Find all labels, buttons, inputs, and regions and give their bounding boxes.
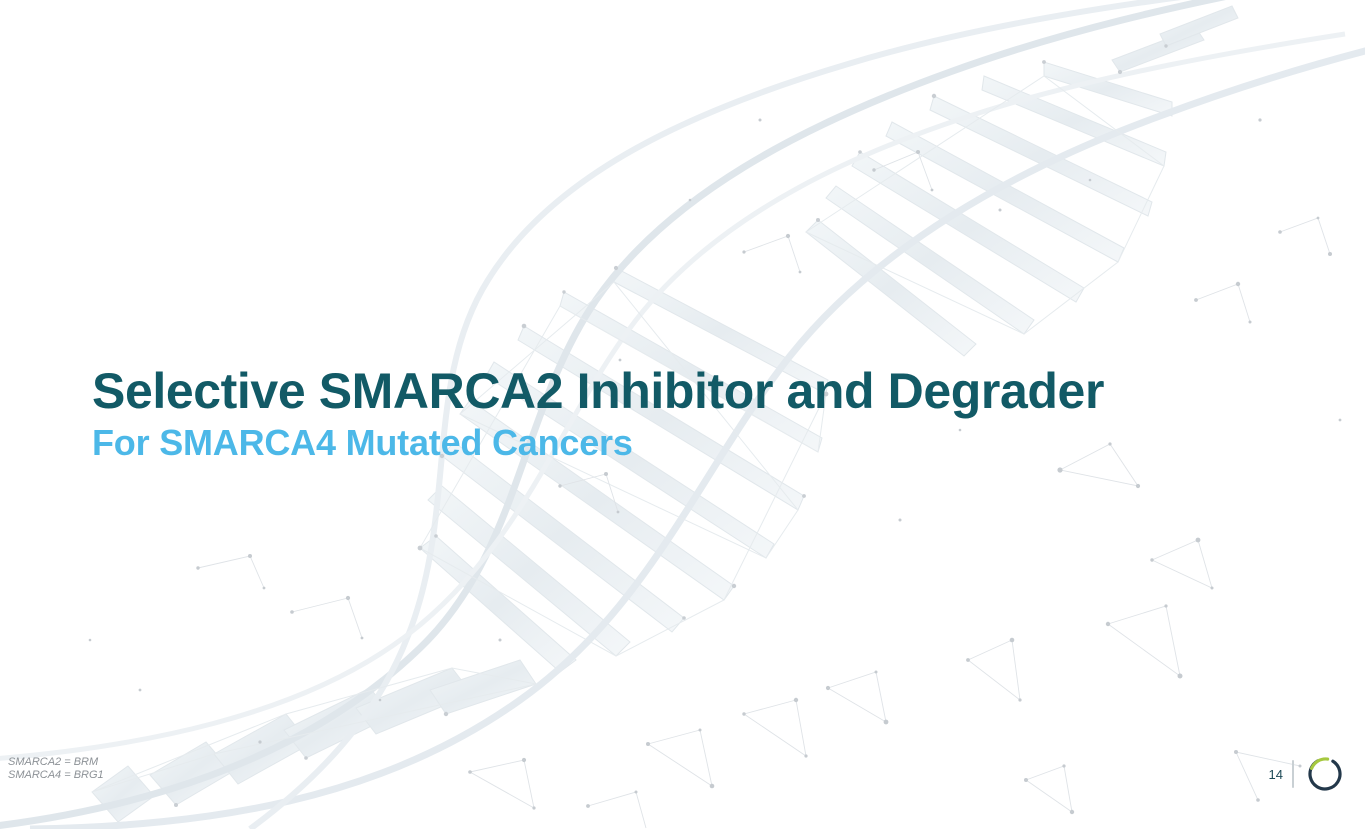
footnote-line-1: SMARCA2 = BRM xyxy=(8,756,104,769)
ring-logo-accent-arc xyxy=(1312,759,1328,768)
slide-footer: 14 xyxy=(1269,748,1347,800)
footnote-line-2: SMARCA4 = BRG1 xyxy=(8,769,104,782)
footer-divider xyxy=(1292,760,1294,788)
page-subtitle: For SMARCA4 Mutated Cancers xyxy=(92,422,1212,464)
title-block: Selective SMARCA2 Inhibitor and Degrader… xyxy=(92,362,1212,464)
particle-constellation xyxy=(89,118,1342,828)
ring-logo-icon xyxy=(1303,752,1347,796)
slide-canvas: Selective SMARCA2 Inhibitor and Degrader… xyxy=(0,0,1365,829)
page-title: Selective SMARCA2 Inhibitor and Degrader xyxy=(92,362,1212,420)
footnote-abbreviations: SMARCA2 = BRM SMARCA4 = BRG1 xyxy=(8,756,104,782)
page-number: 14 xyxy=(1269,768,1283,781)
